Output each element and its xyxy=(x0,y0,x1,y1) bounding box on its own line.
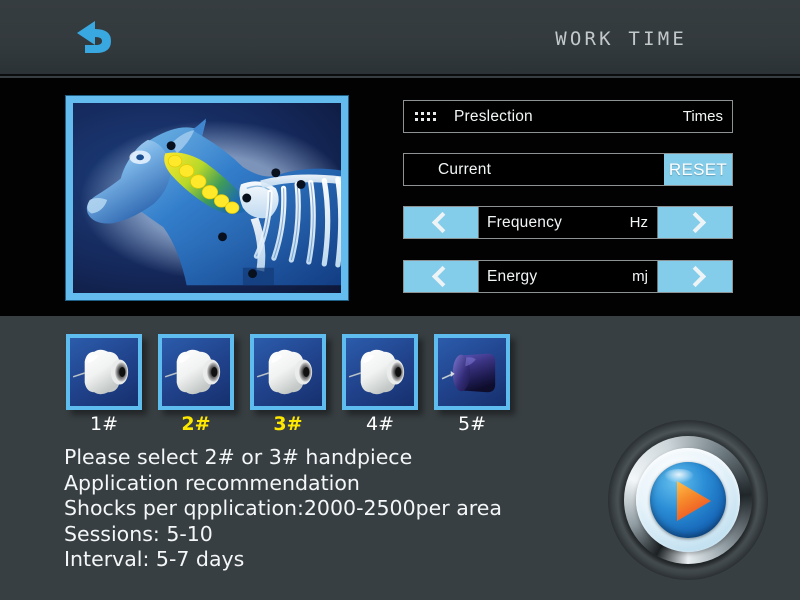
recommendation-line-4: Sessions: 5-10 xyxy=(64,522,584,548)
back-button[interactable] xyxy=(60,12,132,66)
preselection-value xyxy=(674,101,683,132)
frequency-display: Frequency Hz xyxy=(478,207,658,238)
dot-grid-icon xyxy=(404,101,446,132)
handpiece-option-3[interactable]: 3# xyxy=(250,334,326,435)
handpiece-bulb-icon xyxy=(347,344,413,400)
handpiece-selector: 1# 2# 3# xyxy=(66,334,526,439)
chevron-left-icon xyxy=(434,266,448,288)
chevron-right-icon xyxy=(688,266,702,288)
handpiece-label: 5# xyxy=(434,413,510,435)
handpiece-bulb-icon xyxy=(71,344,137,400)
handpiece-thumbnail xyxy=(254,338,322,406)
play-metal-ring xyxy=(624,436,752,564)
handpiece-thumbnail xyxy=(438,338,506,406)
anatomy-image-frame xyxy=(66,96,348,300)
recommendation-text: Please select 2# or 3# handpieceApplicat… xyxy=(64,445,584,573)
play-triangle-icon xyxy=(677,481,711,521)
chevron-left-icon xyxy=(434,212,448,234)
handpiece-thumbnail xyxy=(70,338,138,406)
preselection-label: Preslection xyxy=(446,101,674,132)
frequency-increase-button[interactable] xyxy=(658,207,732,238)
anatomy-image xyxy=(73,103,341,293)
frequency-label: Frequency xyxy=(479,214,621,232)
handpiece-cylinder-icon xyxy=(439,344,505,400)
handpiece-option-4[interactable]: 4# xyxy=(342,334,418,435)
handpiece-tile[interactable] xyxy=(250,334,326,410)
handpiece-label: 4# xyxy=(342,413,418,435)
back-arrow-icon xyxy=(65,15,127,63)
handpiece-tile[interactable] xyxy=(434,334,510,410)
current-label: Current xyxy=(404,154,655,185)
handpiece-tile[interactable] xyxy=(158,334,234,410)
current-row[interactable]: Current RESET xyxy=(403,153,733,186)
preselection-row[interactable]: Preslection Times xyxy=(403,100,733,133)
frequency-unit: Hz xyxy=(630,214,657,231)
energy-unit: mj xyxy=(632,268,657,285)
energy-row: Energy mj xyxy=(403,260,733,293)
energy-display: Energy mj xyxy=(478,261,658,292)
play-core xyxy=(650,462,726,538)
play-gloss-highlight xyxy=(664,469,694,483)
reset-button[interactable]: RESET xyxy=(664,154,732,185)
recommendation-line-3: Shocks per qpplication:2000-2500per area xyxy=(64,496,584,522)
page-title: WORK TIME xyxy=(555,28,687,50)
energy-label: Energy xyxy=(479,268,623,286)
handpiece-tile[interactable] xyxy=(342,334,418,410)
recommendation-line-1: Please select 2# or 3# handpiece xyxy=(64,445,584,471)
chevron-right-icon xyxy=(688,212,702,234)
handpiece-label: 3# xyxy=(250,413,326,435)
app-header: WORK TIME xyxy=(0,0,800,76)
energy-decrease-button[interactable] xyxy=(404,261,478,292)
recommendation-line-5: Interval: 5-7 days xyxy=(64,547,584,573)
handpiece-tile[interactable] xyxy=(66,334,142,410)
handpiece-thumbnail xyxy=(162,338,230,406)
handpiece-label: 1# xyxy=(66,413,142,435)
horse-skeleton-diagram xyxy=(73,103,341,293)
handpiece-thumbnail xyxy=(346,338,414,406)
handpiece-bulb-icon xyxy=(163,344,229,400)
preselection-unit: Times xyxy=(683,101,732,132)
frequency-decrease-button[interactable] xyxy=(404,207,478,238)
handpiece-bulb-icon xyxy=(255,344,321,400)
current-value xyxy=(655,154,664,185)
start-button[interactable] xyxy=(608,420,768,580)
play-inner-ring xyxy=(636,448,740,552)
handpiece-option-1[interactable]: 1# xyxy=(66,334,142,435)
energy-increase-button[interactable] xyxy=(658,261,732,292)
recommendation-line-2: Application recommendation xyxy=(64,471,584,497)
handpiece-option-2[interactable]: 2# xyxy=(158,334,234,435)
handpiece-option-5[interactable]: 5# xyxy=(434,334,510,435)
handpiece-label: 2# xyxy=(158,413,234,435)
frequency-row: Frequency Hz xyxy=(403,206,733,239)
